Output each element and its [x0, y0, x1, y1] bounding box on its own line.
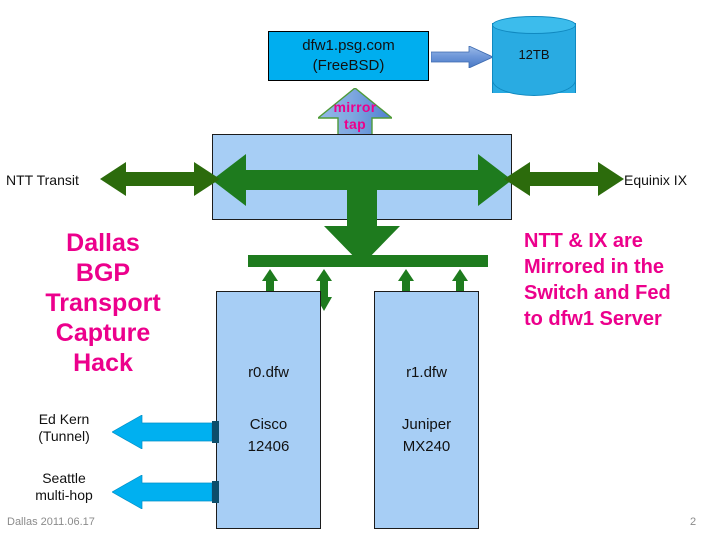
- seattle-label: Seattle multi-hop: [18, 470, 110, 504]
- cylinder-bottom-cap: [492, 76, 576, 96]
- footer-date: Dallas 2011.06.17: [7, 516, 95, 528]
- note-line-2: Mirrored in the: [524, 254, 720, 280]
- mirror-tap-label: mirror tap: [318, 99, 392, 133]
- router-box-r1[interactable]: r1.dfw Juniper MX240: [374, 291, 479, 529]
- seattle-line1: Seattle: [18, 470, 110, 487]
- router-r1-model: MX240: [403, 436, 451, 458]
- router-r0-vendor: Cisco: [250, 414, 288, 436]
- seattle-multihop-arrow-icon: [112, 475, 220, 509]
- router-r0-hostname: r0.dfw: [248, 362, 289, 384]
- ntt-transit-label: NTT Transit: [6, 172, 106, 189]
- ed-kern-line1: Ed Kern: [18, 411, 110, 428]
- router-r1-hostname: r1.dfw: [406, 362, 447, 384]
- slide-canvas: dfw1.psg.com (FreeBSD) 12TB: [0, 0, 720, 540]
- mirror-tap-line1: mirror: [318, 99, 392, 116]
- title-line-3: Transport: [8, 288, 198, 318]
- seattle-line2: multi-hop: [18, 487, 110, 504]
- title-line-4: Capture: [8, 318, 198, 348]
- storage-capacity-label: 12TB: [492, 47, 576, 62]
- server-hostname: dfw1.psg.com: [302, 36, 395, 56]
- server-box[interactable]: dfw1.psg.com (FreeBSD): [268, 31, 429, 81]
- title-line-2: BGP: [8, 258, 198, 288]
- cylinder-top-cap: [492, 16, 576, 34]
- router-r1-vendor: Juniper: [402, 414, 451, 436]
- note-line-1: NTT & IX are: [524, 228, 720, 254]
- storage-cylinder[interactable]: 12TB: [492, 14, 576, 102]
- ed-kern-label: Ed Kern (Tunnel): [18, 411, 110, 445]
- router-box-r0[interactable]: r0.dfw Cisco 12406: [216, 291, 321, 529]
- mirror-tap-line2: tap: [318, 116, 392, 133]
- footer-page-number: 2: [690, 516, 696, 528]
- server-to-storage-arrow-icon: [431, 46, 493, 68]
- server-os: (FreeBSD): [313, 56, 385, 76]
- title-line-1: Dallas: [8, 228, 198, 258]
- slide-title-callout: Dallas BGP Transport Capture Hack: [8, 228, 198, 378]
- note-line-4: to dfw1 Server: [524, 306, 720, 332]
- ed-kern-line2: (Tunnel): [18, 428, 110, 445]
- switch-mirror-path-arrow-icon: [212, 140, 512, 265]
- title-line-5: Hack: [8, 348, 198, 378]
- ed-kern-tunnel-arrow-icon: [112, 415, 220, 449]
- equinix-ix-label: Equinix IX: [624, 172, 720, 189]
- equinix-ix-link-arrow-icon: [504, 160, 624, 198]
- mirroring-note-callout: NTT & IX are Mirrored in the Switch and …: [524, 228, 720, 332]
- ntt-transit-link-arrow-icon: [100, 160, 220, 198]
- router-r0-model: 12406: [248, 436, 290, 458]
- note-line-3: Switch and Fed: [524, 280, 720, 306]
